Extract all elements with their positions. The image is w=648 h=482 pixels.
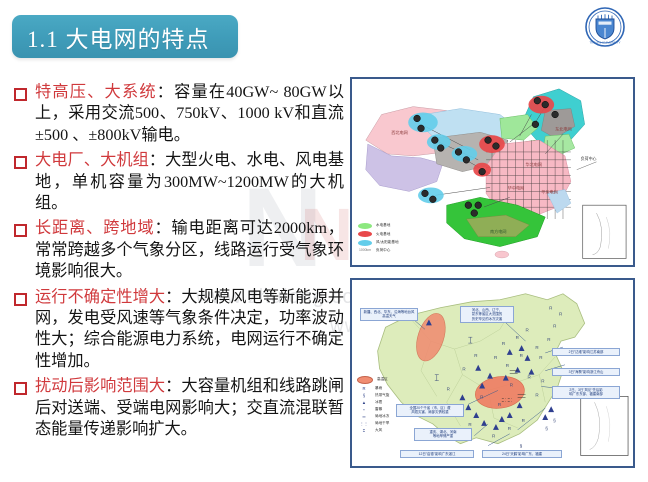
map-annotation: 重庆、湖北、河南 等地旱情严重 bbox=[414, 428, 472, 441]
bullet-text: 长距离、跨地域：输电距离可达2000km，常常跨越多个气象分区，线路运行受气象环… bbox=[35, 218, 344, 282]
legend-item: 水电基地 bbox=[358, 223, 399, 229]
bullet-keyword: 扰动后影响范围大 bbox=[35, 377, 165, 395]
svg-text:西北电网: 西北电网 bbox=[391, 129, 408, 135]
university-emblem-icon: TIANJIN UNIVERSITY bbox=[584, 6, 626, 48]
bullet-square-icon bbox=[14, 293, 27, 306]
svg-text:§: § bbox=[553, 418, 556, 424]
china-meteorological-hazard-map: RR RR RR RR RR RR RR RR RR RR RR RR RR §… bbox=[350, 278, 635, 468]
bullet-keyword: 长距离、跨地域 bbox=[35, 219, 154, 237]
legend-symbol-drought: ⋮⋮ bbox=[357, 422, 371, 426]
map-annotation: 2日"达维"影响江苏南部 bbox=[552, 348, 620, 356]
energy-map-legend: 水电基地 火电基地 风/太阳能基地 1000km 负荷中心 bbox=[358, 223, 399, 255]
legend-item: ▲ 冰雹 bbox=[357, 401, 389, 405]
svg-text:华北电网: 华北电网 bbox=[526, 161, 543, 167]
legend-label: 风/太阳能基地 bbox=[376, 241, 399, 245]
legend-swatch-hydro bbox=[358, 223, 372, 229]
svg-text:负荷中心: 负荷中心 bbox=[581, 156, 597, 161]
legend-symbol-thunder: ⌁ bbox=[357, 408, 371, 412]
legend-label: 热带气旋 bbox=[375, 394, 389, 398]
legend-label: 冰雹 bbox=[375, 401, 382, 405]
legend-item: 火电基地 bbox=[358, 231, 399, 237]
bullet-square-icon bbox=[14, 88, 27, 101]
legend-label: 局地冰冻 bbox=[375, 415, 389, 419]
svg-text:东北电网: 东北电网 bbox=[555, 125, 572, 131]
svg-text:§: § bbox=[545, 426, 548, 432]
bullet-separator: ： bbox=[165, 288, 181, 306]
bullet-square-icon bbox=[14, 382, 27, 395]
map-annotation: 3日"海葵"影响浙江舟山 bbox=[552, 368, 620, 376]
legend-symbol-wind: ⌶ bbox=[357, 429, 371, 433]
slide-title-banner: 1.1 大电网的特点 bbox=[12, 15, 238, 58]
bullet-text: 特高压、大系统：容量在40GW~ 80GW以上，采用交流500、750kV、10… bbox=[35, 82, 344, 146]
china-energy-base-map: 东北电网 华北电网 华中电网 华东电网 南方电网 西北电网 负荷中心 水电基地 … bbox=[350, 77, 635, 267]
legend-label: 高温区 bbox=[377, 378, 388, 382]
svg-text:TIANJIN UNIVERSITY: TIANJIN UNIVERSITY bbox=[589, 40, 620, 44]
map-annotation: 2日、3日"风论"先后影 响广东东部、福建南部 bbox=[552, 386, 620, 399]
bullet-square-icon bbox=[14, 156, 27, 169]
bullet-text: 运行不确定性增大：大规模风电等新能源并网，发电受风速等气象条件决定，功率波动性大… bbox=[35, 287, 344, 373]
bullet-text: 扰动后影响范围大：大容量机组和线路跳闸后对送端、受端电网影响大；交直流混联暂态能… bbox=[35, 376, 344, 440]
legend-swatch-thermal bbox=[358, 231, 372, 237]
legend-symbol-rain: R bbox=[357, 387, 371, 391]
legend-item: R 暴雨 bbox=[357, 387, 389, 391]
bullet-separator: ： bbox=[154, 219, 171, 237]
list-item: 运行不确定性增大：大规模风电等新能源并网，发电受风速等气象条件决定，功率波动性大… bbox=[14, 287, 344, 373]
hazard-map-legend: 高温区 R 暴雨 § 热带气旋 ▲ 冰雹 ⌁ 雷暴 ═ 局地冰冻 ⋮⋮ 局地干旱… bbox=[357, 376, 389, 436]
legend-item: ⋮⋮ 局地干旱 bbox=[357, 422, 389, 426]
svg-text:华中电网: 华中电网 bbox=[508, 184, 525, 190]
list-item: 大电厂、大机组：大型火电、水电、风电基地，单机容量为300MW~1200MW的大… bbox=[14, 150, 344, 214]
map-annotation: 全国20个千省（市、区）遭 风雹灾害，局部灾情较重 bbox=[396, 404, 464, 417]
legend-item: ═ 局地冰冻 bbox=[357, 415, 389, 419]
bullet-square-icon bbox=[14, 224, 27, 237]
legend-item: ⌶ 大风 bbox=[357, 429, 389, 433]
bullet-separator: ： bbox=[157, 83, 174, 101]
legend-label: 局地干旱 bbox=[375, 422, 389, 426]
legend-item: 风/太阳能基地 bbox=[358, 240, 399, 246]
legend-item: 1000km 负荷中心 bbox=[358, 249, 399, 253]
legend-label: 暴雨 bbox=[375, 387, 382, 391]
legend-label: 水电基地 bbox=[376, 224, 390, 228]
legend-swatch-high-temp bbox=[357, 376, 373, 384]
legend-scale-note: 1000km bbox=[358, 249, 372, 253]
list-item: 长距离、跨地域：输电距离可达2000km，常常跨越多个气象分区，线路运行受气象环… bbox=[14, 218, 344, 282]
legend-item: § 热带气旋 bbox=[357, 394, 389, 398]
svg-text:南方电网: 南方电网 bbox=[490, 228, 507, 234]
legend-label: 负荷中心 bbox=[376, 249, 390, 253]
bullet-keyword: 大电厂、大机组 bbox=[35, 151, 149, 169]
bullet-keyword: 运行不确定性增大 bbox=[35, 288, 165, 306]
legend-swatch-wind-solar bbox=[358, 240, 372, 246]
bullet-separator: ： bbox=[149, 151, 165, 169]
legend-symbol-cyclone: § bbox=[357, 394, 371, 398]
map-annotation: 河北、山西、辽宁、 蒙东等省区大范围的 历史罕见的冰冻灾害 bbox=[460, 306, 514, 323]
legend-label: 火电基地 bbox=[376, 233, 390, 237]
legend-label: 雷暴 bbox=[375, 408, 382, 412]
legend-symbol-frost: ═ bbox=[357, 415, 371, 419]
legend-symbol-hail: ▲ bbox=[357, 401, 371, 405]
emblem-svg: TIANJIN UNIVERSITY bbox=[584, 6, 626, 48]
legend-item: 高温区 bbox=[357, 376, 389, 384]
bullet-separator: ： bbox=[165, 377, 181, 395]
bullet-keyword: 特高压、大系统 bbox=[35, 83, 157, 101]
legend-item: ⌁ 雷暴 bbox=[357, 408, 389, 412]
bullet-text: 大电厂、大机组：大型火电、水电、风电基地，单机容量为300MW~1200MW的大… bbox=[35, 150, 344, 214]
list-item: 扰动后影响范围大：大容量机组和线路跳闸后对送端、受端电网影响大；交直流混联暂态能… bbox=[14, 376, 344, 440]
legend-label: 大风 bbox=[375, 429, 382, 433]
page-title: 1.1 大电网的特点 bbox=[12, 20, 210, 54]
svg-text:§: § bbox=[520, 444, 523, 450]
map-annotation: 24日"天鹤"影响广东、福建 bbox=[482, 450, 562, 458]
svg-text:华东电网: 华东电网 bbox=[541, 188, 558, 194]
map-annotation: 新疆、西北、华东、沿海等地台风高温天气 bbox=[360, 308, 418, 321]
map-annotation: 12日"启德"影响广东湛江 bbox=[400, 450, 474, 458]
list-item: 特高压、大系统：容量在40GW~ 80GW以上，采用交流500、750kV、10… bbox=[14, 82, 344, 146]
bullet-list: 特高压、大系统：容量在40GW~ 80GW以上，采用交流500、750kV、10… bbox=[14, 82, 344, 445]
